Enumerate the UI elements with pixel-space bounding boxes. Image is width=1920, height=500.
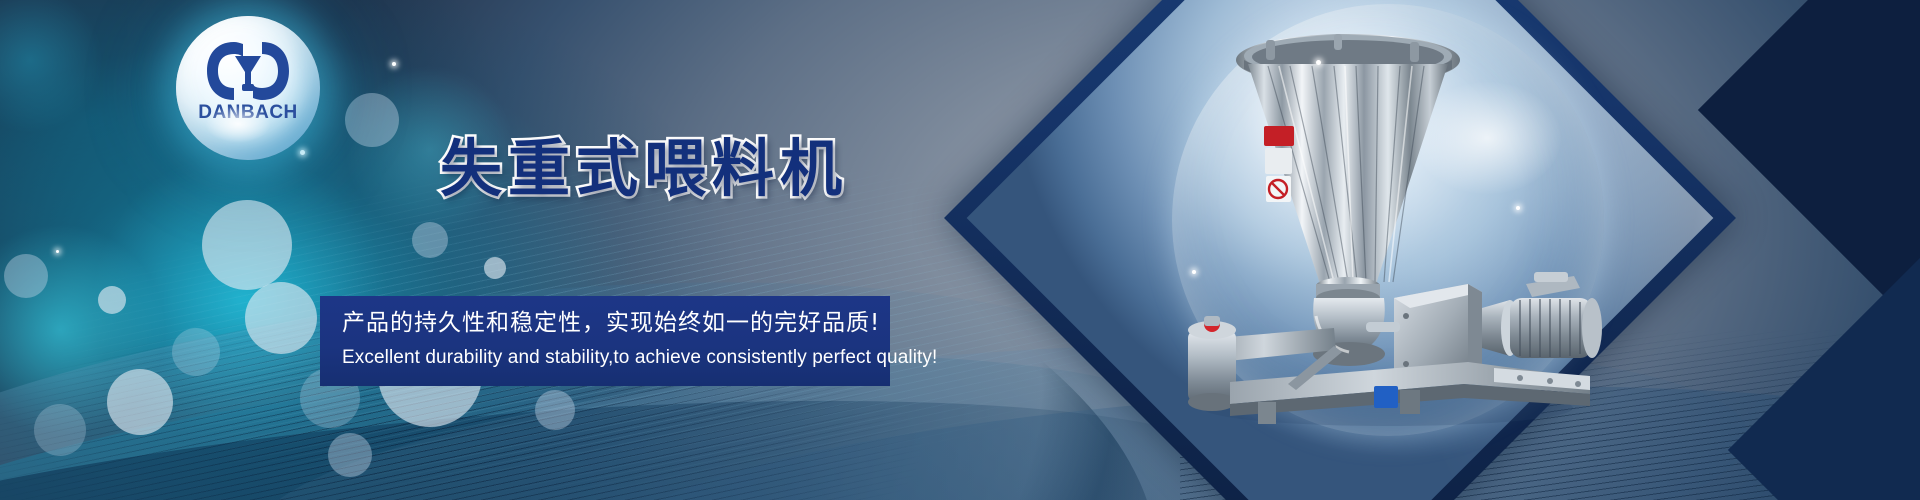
danbach-monogram-icon (204, 38, 292, 104)
sparkle-icon (1516, 206, 1520, 210)
tagline-panel: 产品的持久性和稳定性，实现始终如一的完好品质! Excellent durabi… (320, 296, 890, 386)
sparkle-icon (1192, 270, 1196, 274)
corner-wedge-top-right (1698, 0, 1920, 322)
warning-label (1264, 126, 1294, 146)
sparkle-icon (1316, 60, 1321, 65)
blue-terminal-block (1374, 386, 1398, 408)
loss-in-weight-feeder-image (1138, 16, 1608, 446)
product-showcase (1060, 0, 1700, 500)
logo-wordmark: DANBACH (176, 102, 320, 124)
page-title: 失重式喂料机 (440, 118, 848, 208)
danbach-logo-sphere[interactable]: DANBACH (176, 16, 320, 160)
product-hero-banner: DANBACH 失重式喂料机 产品的持久性和稳定性，实现始终如一的完好品质! E… (0, 0, 1920, 500)
tagline-chinese: 产品的持久性和稳定性，实现始终如一的完好品质! (342, 309, 890, 338)
tagline-english: Excellent durability and stability,to ac… (342, 347, 890, 369)
